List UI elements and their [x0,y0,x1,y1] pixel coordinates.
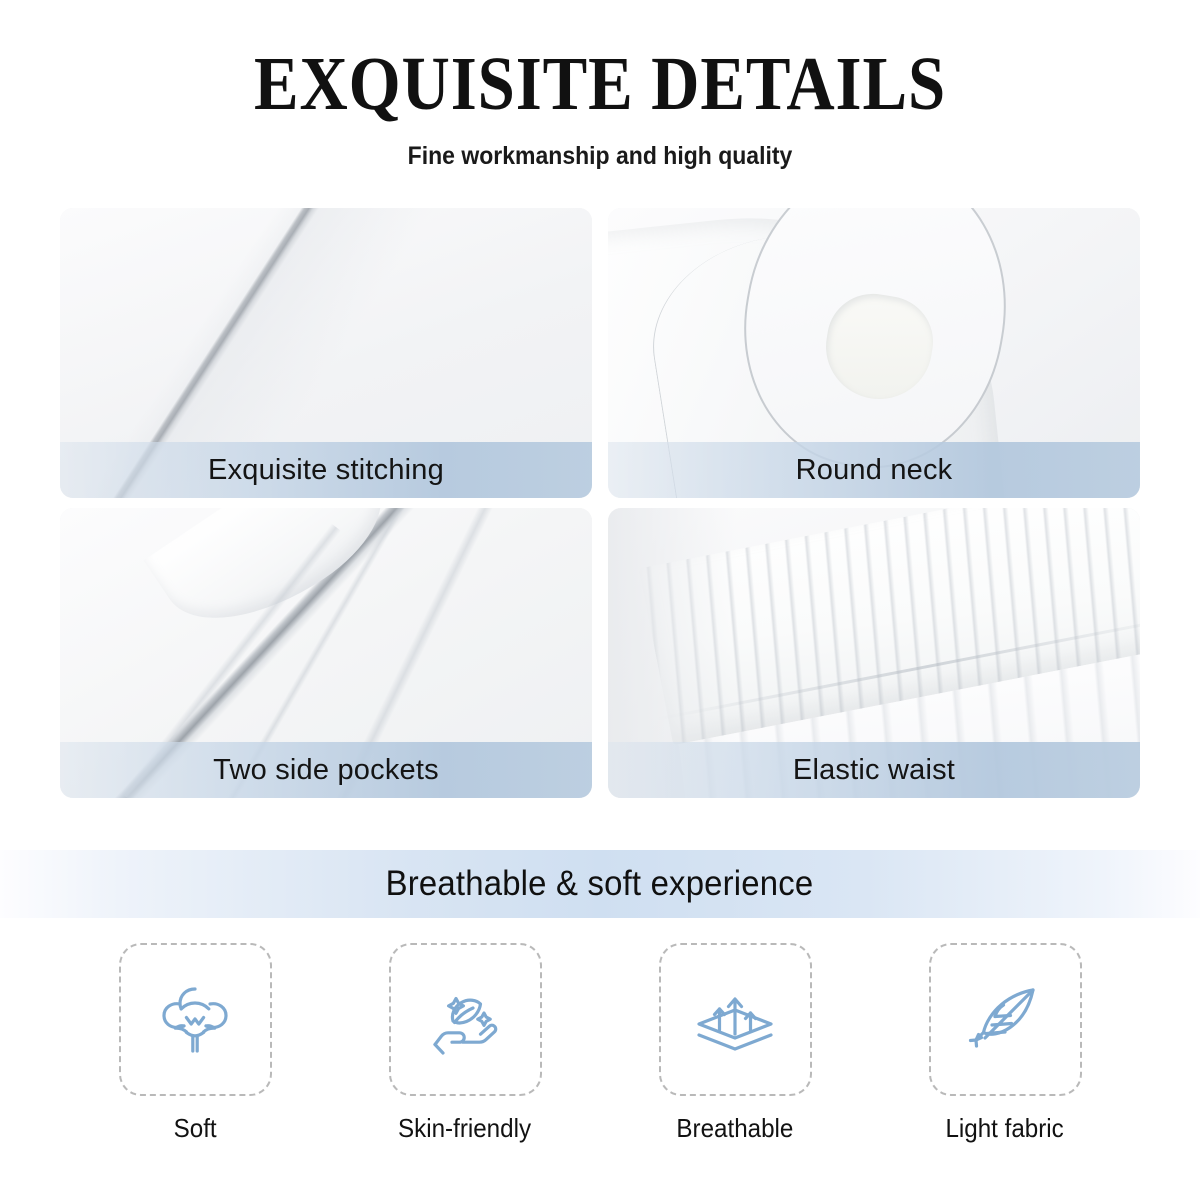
card-label-text: Exquisite stitching [208,454,444,487]
page-subtitle: Fine workmanship and high quality [48,122,1152,171]
feature-label: Light fabric [946,1113,1064,1144]
detail-card-grid: Exquisite stitching Round neck [60,208,1140,798]
fabric-layers-airflow-icon [687,972,783,1068]
card-label-text: Two side pockets [213,754,439,787]
feature-item-skin-friendly[interactable]: Skin-friendly [330,943,600,1144]
card-label-text: Round neck [796,454,953,487]
card-label-text: Elastic waist [793,754,955,787]
icon-box [389,943,542,1096]
feature-item-soft[interactable]: Soft [60,943,330,1144]
hand-holding-leaf-sparkle-icon [417,972,513,1068]
icon-box [659,943,812,1096]
feature-item-light-fabric[interactable]: Light fabric [870,943,1140,1144]
banner-text: Breathable & soft experience [386,864,814,904]
feature-icon-row: Soft Skin-friendly [60,943,1140,1144]
breathable-soft-banner: Breathable & soft experience [0,850,1200,918]
card-label-bar: Two side pockets [60,742,592,798]
card-label-bar: Elastic waist [608,742,1140,798]
feather-icon [957,972,1053,1068]
card-label-bar: Exquisite stitching [60,442,592,498]
page-header: EXQUISITE DETAILS Fine workmanship and h… [0,0,1200,171]
detail-card-two-side-pockets[interactable]: Two side pockets [60,508,592,798]
icon-box [929,943,1082,1096]
page-title: EXQUISITE DETAILS [72,0,1128,122]
detail-card-round-neck[interactable]: Round neck [608,208,1140,498]
detail-card-elastic-waist[interactable]: Elastic waist [608,508,1140,798]
feature-item-breathable[interactable]: Breathable [600,943,870,1144]
icon-box [119,943,272,1096]
detail-card-exquisite-stitching[interactable]: Exquisite stitching [60,208,592,498]
feature-label: Skin-friendly [398,1113,531,1144]
card-label-bar: Round neck [608,442,1140,498]
feature-label: Soft [173,1113,216,1144]
feature-label: Breathable [677,1113,794,1144]
cotton-boll-icon [147,972,243,1068]
